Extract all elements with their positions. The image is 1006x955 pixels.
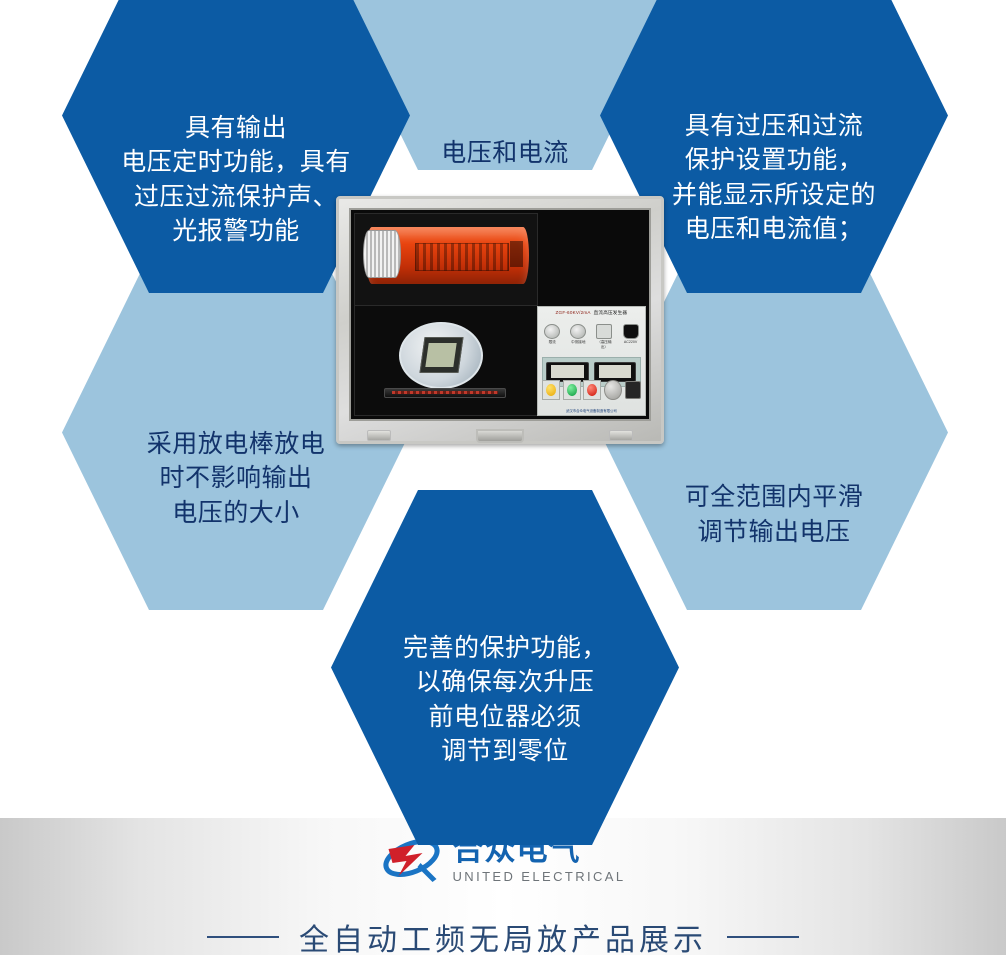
panel-brand-label: 武汉市合众电气设备制造有限公司 [538, 408, 645, 413]
indicator-hv[interactable] [583, 380, 601, 401]
socket-body [544, 324, 560, 339]
voltage-adjust-knob[interactable] [604, 380, 622, 401]
cylinder-label [415, 243, 509, 271]
panel-model-text: ZGF-60KV/2mA [556, 310, 591, 315]
meter-lcd [420, 337, 464, 373]
lamp-red-icon [587, 384, 597, 396]
socket-body [623, 324, 639, 339]
handheld-meter [399, 322, 483, 389]
socket-row: 限流 中测接地 （高压输出） AC220V [544, 324, 638, 352]
hex-shape-bottom-center [331, 490, 679, 845]
lamp-green-icon [567, 384, 577, 396]
lower-foam-bay [354, 305, 538, 416]
footer-title: 全自动工频无局放产品展示 [299, 915, 707, 955]
rule-left [207, 936, 279, 938]
socket-label: （高压输出） [596, 340, 612, 350]
cylinder-end-cap [363, 230, 401, 278]
socket-ac-inlet[interactable]: AC220V [623, 324, 639, 344]
case-latch-left [367, 430, 391, 441]
lamp-yellow-icon [546, 384, 556, 396]
socket-hv-output[interactable]: （高压输出） [596, 324, 612, 350]
panel-model-label: ZGF-60KV/2mA直流高压发生器 [538, 310, 645, 316]
button-row [542, 378, 641, 402]
indicator-power[interactable] [563, 380, 581, 401]
case-interior: ZGF-60KV/2mA直流高压发生器 限流 中测接地 [349, 208, 651, 421]
feature-hex-bottom-center[interactable]: 完善的保护功能， 以确保每次升压 前电位器必须 调节到零位 [331, 490, 679, 845]
socket-label: 限流 [544, 340, 560, 345]
socket-label: 中测接地 [570, 340, 586, 345]
indicator-work[interactable] [542, 380, 560, 401]
control-panel: ZGF-60KV/2mA直流高压发生器 限流 中测接地 [537, 306, 646, 416]
case-handle [476, 429, 524, 443]
socket-current-limit[interactable]: 限流 [544, 324, 560, 345]
power-switch[interactable] [625, 381, 641, 399]
socket-body [596, 324, 612, 339]
case-latch-right [609, 430, 633, 441]
upper-foam-bay [354, 213, 538, 307]
hv-cylinder [366, 227, 530, 284]
poster-canvas: 电压和电流 具有输出 电压定时功能，具有 过压过流保护声、 光报警功能 具有过压… [0, 0, 1006, 955]
logo-english-name: UNITED ELECTRICAL [453, 870, 626, 883]
product-photo: ZGF-60KV/2mA直流高压发生器 限流 中测接地 [336, 196, 664, 444]
socket-ground[interactable]: 中测接地 [570, 324, 586, 345]
rule-right [727, 936, 799, 938]
socket-label: AC220V [623, 340, 639, 344]
panel-title-text: 直流高压发生器 [594, 310, 628, 315]
footer-title-row: 全自动工频无局放产品展示 [0, 915, 1006, 955]
socket-body [570, 324, 586, 339]
warning-sticker [510, 241, 523, 267]
discharge-rod [384, 388, 506, 398]
product-case: ZGF-60KV/2mA直流高压发生器 限流 中测接地 [336, 196, 664, 444]
